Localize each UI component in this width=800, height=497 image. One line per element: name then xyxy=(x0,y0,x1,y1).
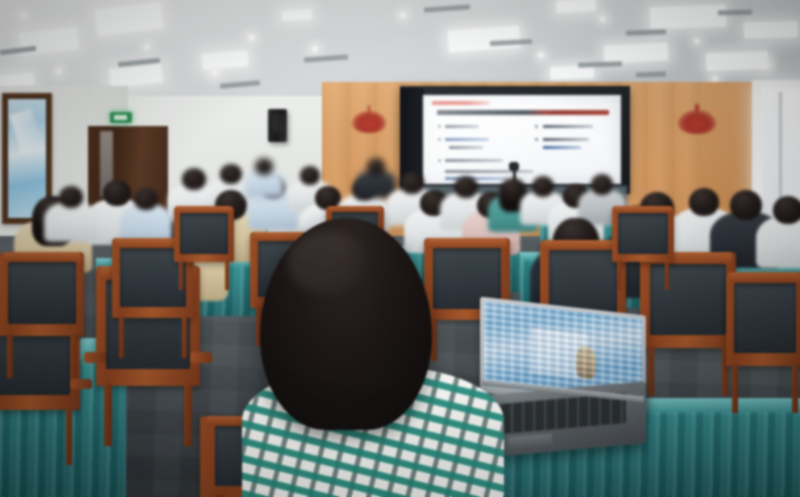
chair-crest xyxy=(543,240,622,250)
chair-leg xyxy=(617,261,621,290)
chair-leg xyxy=(225,261,229,290)
chair-back-3[interactable] xyxy=(612,206,674,262)
laptop-touchpad[interactable] xyxy=(508,433,552,449)
chair-mid-left[interactable] xyxy=(0,252,84,336)
chair-back-pad xyxy=(618,213,668,254)
chair-armrest xyxy=(190,352,213,363)
chair-leg xyxy=(182,316,188,358)
chair-leg xyxy=(66,408,73,465)
laptop-window xyxy=(531,327,590,380)
chair-right-2[interactable] xyxy=(640,252,736,348)
chair-armrest xyxy=(84,352,107,363)
chair-leg xyxy=(665,261,669,290)
chair-leg xyxy=(104,384,111,446)
chair-armrest xyxy=(70,379,91,389)
chair-leg xyxy=(7,334,13,378)
chair-leg xyxy=(792,364,797,413)
chair-back-pad xyxy=(549,250,618,314)
chair-back-pad xyxy=(650,264,727,335)
chair-leg xyxy=(732,364,737,413)
chair-leg xyxy=(648,346,655,396)
foreground-attendee xyxy=(236,218,504,497)
chair-crest xyxy=(176,206,231,213)
chair-back-pad xyxy=(180,213,228,254)
chair-back-pad xyxy=(734,283,796,353)
chair-crest xyxy=(614,206,671,213)
conference-room-photo xyxy=(0,0,800,497)
chair-right-3[interactable] xyxy=(726,272,800,366)
chair-back-pad xyxy=(8,262,75,324)
chair-crest xyxy=(729,272,800,283)
laptop-screen-icon xyxy=(576,345,597,380)
chair-back-1[interactable] xyxy=(174,206,234,262)
chair-crest xyxy=(3,252,80,262)
chair-leg xyxy=(119,316,125,358)
chair-leg xyxy=(71,334,77,378)
chair-leg xyxy=(179,261,183,290)
foreground-attendee-hair xyxy=(260,218,432,430)
chair-leg xyxy=(184,384,191,446)
